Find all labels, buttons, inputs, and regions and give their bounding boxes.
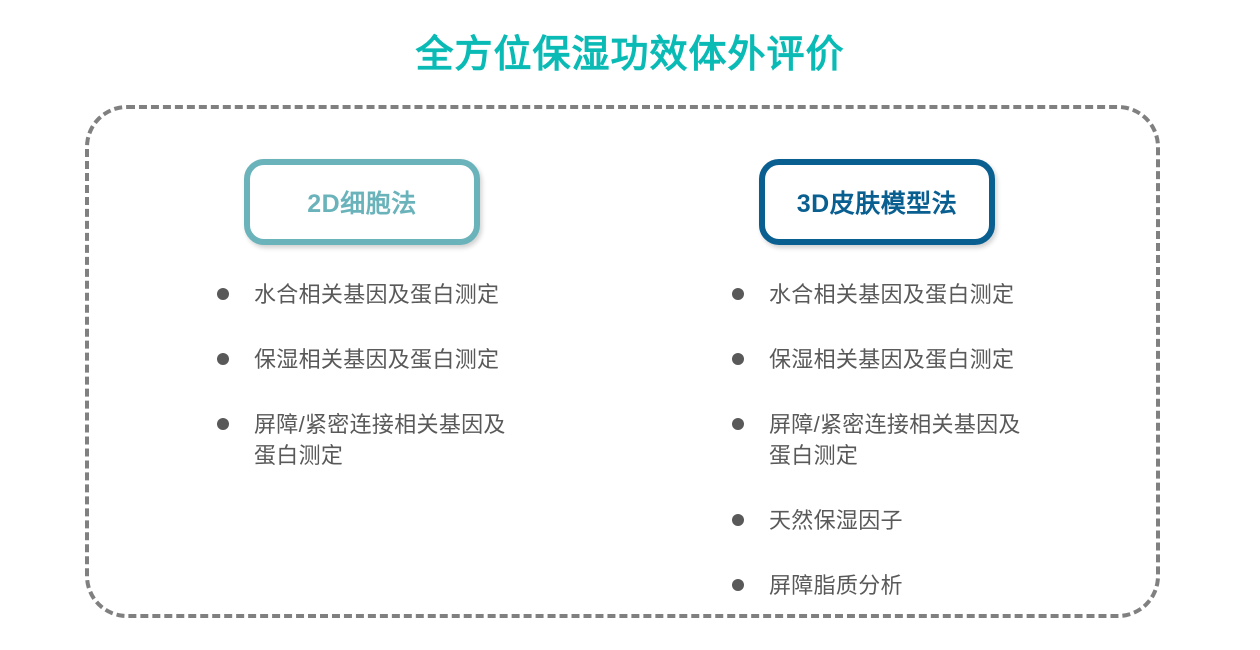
list-item: 屏障/紧密连接相关基因及 蛋白测定 (724, 409, 1124, 471)
list-item-label: 保湿相关基因及蛋白测定 (769, 344, 1124, 375)
slide-canvas: 全方位保湿功效体外评价 2D细胞法 水合相关基因及蛋白测定 保湿相关基因及蛋白测… (0, 0, 1260, 650)
list-item: 屏障脂质分析 (724, 570, 1124, 601)
column-2d: 2D细胞法 水合相关基因及蛋白测定 保湿相关基因及蛋白测定 屏障/紧密连接相关基… (209, 109, 679, 614)
list-item-label: 屏障/紧密连接相关基因及 蛋白测定 (769, 409, 1124, 471)
bullet-list-3d: 水合相关基因及蛋白测定 保湿相关基因及蛋白测定 屏障/紧密连接相关基因及 蛋白测… (724, 279, 1124, 635)
list-item-label: 保湿相关基因及蛋白测定 (254, 344, 609, 375)
list-item-label: 水合相关基因及蛋白测定 (254, 279, 609, 310)
method-header-2d[interactable]: 2D细胞法 (244, 159, 480, 245)
list-item: 屏障/紧密连接相关基因及 蛋白测定 (209, 409, 609, 471)
list-item: 水合相关基因及蛋白测定 (209, 279, 609, 310)
bullet-dot-icon (732, 579, 744, 591)
bullet-dot-icon (217, 418, 229, 430)
bullet-dot-icon (732, 353, 744, 365)
list-item: 水合相关基因及蛋白测定 (724, 279, 1124, 310)
list-item: 保湿相关基因及蛋白测定 (209, 344, 609, 375)
bullet-dot-icon (217, 288, 229, 300)
method-header-3d-label: 3D皮肤模型法 (797, 184, 957, 220)
list-item-label: 屏障脂质分析 (769, 570, 1124, 601)
list-item: 保湿相关基因及蛋白测定 (724, 344, 1124, 375)
method-header-3d[interactable]: 3D皮肤模型法 (759, 159, 995, 245)
list-item: 天然保湿因子 (724, 505, 1124, 536)
dashed-content-frame: 2D细胞法 水合相关基因及蛋白测定 保湿相关基因及蛋白测定 屏障/紧密连接相关基… (85, 105, 1160, 618)
bullet-dot-icon (732, 288, 744, 300)
list-item-label: 水合相关基因及蛋白测定 (769, 279, 1124, 310)
bullet-list-2d: 水合相关基因及蛋白测定 保湿相关基因及蛋白测定 屏障/紧密连接相关基因及 蛋白测… (209, 279, 609, 505)
bullet-dot-icon (732, 514, 744, 526)
bullet-dot-icon (217, 353, 229, 365)
method-header-2d-label: 2D细胞法 (307, 184, 416, 220)
page-title: 全方位保湿功效体外评价 (0, 30, 1260, 80)
list-item-label: 屏障/紧密连接相关基因及 蛋白测定 (254, 409, 609, 471)
list-item-label: 天然保湿因子 (769, 505, 1124, 536)
column-3d: 3D皮肤模型法 水合相关基因及蛋白测定 保湿相关基因及蛋白测定 屏障/紧密连接相… (724, 109, 1194, 614)
bullet-dot-icon (732, 418, 744, 430)
